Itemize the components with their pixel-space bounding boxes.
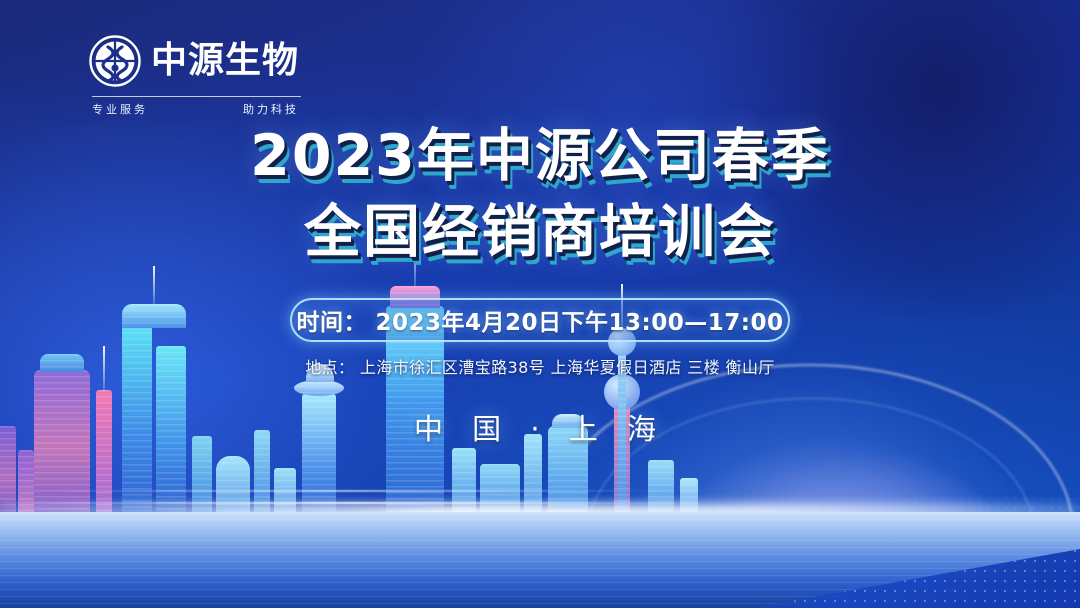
skyline-streak <box>40 490 660 492</box>
headline-line-1: 2023年中源公司春季 <box>0 118 1080 194</box>
tagline-left: 专业服务 <box>92 101 148 117</box>
tagline-right: 助力科技 <box>243 101 299 117</box>
page-title: 2023年中源公司春季 全国经销商培训会 <box>0 118 1080 270</box>
logo-tagline: 专业服务 助力科技 <box>88 101 303 117</box>
company-logo[interactable]: 中源生物 专业服务 助力科技 <box>88 34 303 117</box>
logo-divider <box>92 96 301 97</box>
poster-canvas: 中源生物 专业服务 助力科技 2023年中源公司春季 全国经销商培训会 时间： … <box>0 0 1080 608</box>
time-text: 时间： 2023年4月20日下午13:00—17:00 <box>297 303 784 337</box>
headline-line-2: 全国经销商培训会 <box>0 194 1080 270</box>
building-terrace <box>294 380 344 396</box>
logo-row: 中源生物 <box>88 34 303 88</box>
venue-text: 地点： 上海市徐汇区漕宝路38号 上海华夏假日酒店 三楼 衡山厅 <box>0 354 1080 378</box>
circular-dna-emblem-icon <box>88 34 142 88</box>
building-roof <box>122 304 186 328</box>
company-name: 中源生物 <box>151 43 299 79</box>
building-spire <box>153 266 155 306</box>
time-banner: 时间： 2023年4月20日下午13:00—17:00 <box>290 298 790 342</box>
city-label: 中 国 · 上 海 <box>0 406 1080 448</box>
